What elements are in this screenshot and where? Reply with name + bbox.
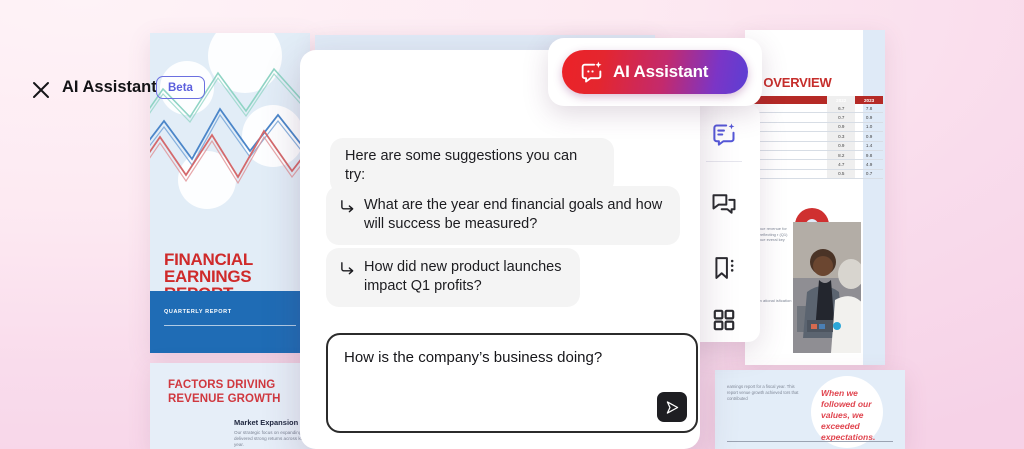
table-cell-2022: 0.9 xyxy=(827,141,855,150)
ai-assistant-icon xyxy=(711,121,738,148)
table-cell-2023: 0.7 xyxy=(855,169,883,178)
cover-band-rule xyxy=(164,325,296,326)
table-cell-2023: 0.9 xyxy=(855,113,883,122)
table-cell-2022: 0.7 xyxy=(827,113,855,122)
cover-title-line-1: FINANCIAL xyxy=(164,251,302,268)
table-cell-2022: 0.5 xyxy=(827,169,855,178)
table-cell-2023: 1.0 xyxy=(855,122,883,131)
table-row: 4.74.9 xyxy=(747,160,883,169)
send-icon xyxy=(664,399,681,416)
cover-title-line-2: EARNINGS xyxy=(164,268,302,285)
table-cell-2023: 7.8 xyxy=(855,104,883,113)
photo-illustration xyxy=(793,222,861,353)
close-button[interactable] xyxy=(30,79,52,101)
comments-icon xyxy=(710,190,738,218)
rail-divider xyxy=(706,161,742,162)
table-row: 0.50.7 xyxy=(747,169,883,178)
apps-grid-icon xyxy=(711,307,737,333)
composer-input[interactable]: How is the company’s business doing? xyxy=(344,348,682,368)
zigzag-red xyxy=(150,115,310,205)
ai-assistant-button-label: AI Assistant xyxy=(613,62,708,82)
table-cell-2023: 0.9 xyxy=(855,132,883,141)
enter-arrow-icon xyxy=(340,261,355,276)
pull-quote: When we followed our values, we exceeded… xyxy=(821,388,877,443)
suggestion-text: How did new product launches impact Q1 p… xyxy=(364,258,564,296)
growth-overview-table: 2022 2023 6.77.80.70.90.91.00.30.90.91.4… xyxy=(747,96,883,179)
screen: FINANCIAL EARNINGS REPORT QUARTERLY REPO… xyxy=(0,0,1024,449)
quote-rule xyxy=(727,441,893,443)
table-cell-2023: 4.9 xyxy=(855,160,883,169)
growth-title-line-2: REVENUE GROWTH xyxy=(168,393,281,407)
cover-footer-band: QUARTERLY REPORT xyxy=(150,291,310,353)
document-quote-page[interactable]: earnings report for a fiscal year. This … xyxy=(715,370,905,449)
close-icon xyxy=(30,79,52,101)
suggestion-chip[interactable]: What are the year end financial goals an… xyxy=(326,186,680,245)
document-table-page[interactable]: TH OVERVIEW 2022 2023 6.77.80.70.90.91.0… xyxy=(745,30,885,365)
beta-badge: Beta xyxy=(156,76,205,99)
table-cell-2023: 1.4 xyxy=(855,141,883,150)
ai-assistant-launcher-card: AI Assistant xyxy=(548,38,762,106)
cover-artwork xyxy=(150,33,310,238)
table-cell-2022: 0.3 xyxy=(827,132,855,141)
table-row: 8.29.8 xyxy=(747,150,883,159)
suggestion-text: What are the year end financial goals an… xyxy=(364,196,664,234)
quote-page-body: earnings report for a fiscal year. This … xyxy=(727,384,805,402)
table-cell-2022: 8.2 xyxy=(827,150,855,159)
people-photo xyxy=(793,222,861,353)
send-button[interactable] xyxy=(657,392,687,422)
growth-title-line-1: FACTORS DRIVING xyxy=(168,379,281,393)
bookmarks-icon xyxy=(710,254,738,282)
growth-subhead: Market Expansion xyxy=(234,418,298,427)
table-row: 0.91.0 xyxy=(747,122,883,131)
table-cell-2022: 0.9 xyxy=(827,122,855,131)
panel-title: AI Assistant xyxy=(62,78,157,97)
cover-band-label: QUARTERLY REPORT xyxy=(164,309,232,315)
table-row: 0.70.9 xyxy=(747,113,883,122)
table-header-2022: 2022 xyxy=(827,96,855,104)
table-cell-2022: 4.7 xyxy=(827,160,855,169)
table-row: 6.77.8 xyxy=(747,104,883,113)
growth-title: FACTORS DRIVING REVENUE GROWTH xyxy=(168,379,281,406)
table-cell-2023: 9.8 xyxy=(855,150,883,159)
message-composer[interactable]: How is the company’s business doing? xyxy=(326,333,698,433)
ai-chat-sparkle-icon xyxy=(579,60,604,85)
table-cell-2022: 6.7 xyxy=(827,104,855,113)
suggestion-chip[interactable]: How did new product launches impact Q1 p… xyxy=(326,248,580,307)
table-header-row: 2022 2023 xyxy=(747,96,883,104)
table-header-2023: 2023 xyxy=(855,96,883,104)
ai-assistant-button[interactable]: AI Assistant xyxy=(562,50,748,94)
table-row: 0.91.4 xyxy=(747,141,883,150)
enter-arrow-icon xyxy=(340,199,355,214)
table-row: 0.30.9 xyxy=(747,132,883,141)
